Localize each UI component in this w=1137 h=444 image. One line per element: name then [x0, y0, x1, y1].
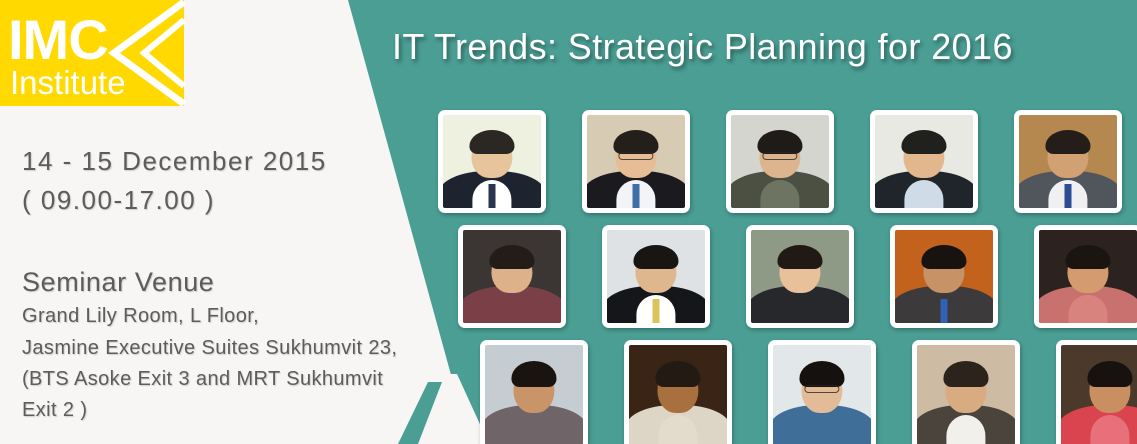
speaker-row-1 [438, 110, 1122, 213]
speaker-photo [912, 340, 1020, 444]
speaker-10-portrait [1039, 230, 1137, 323]
speaker-photo [582, 110, 690, 213]
speaker-11-portrait [485, 345, 583, 444]
speaker-photo [726, 110, 834, 213]
speaker-photo [746, 225, 854, 328]
speaker-photo [870, 110, 978, 213]
speaker-13-portrait [773, 345, 871, 444]
speaker-7-portrait [607, 230, 705, 323]
venue-line-4: Exit 2 ) [22, 399, 87, 422]
venue-line-3: (BTS Asoke Exit 3 and MRT Sukhumvit [22, 368, 383, 391]
speaker-12-portrait [629, 345, 727, 444]
speaker-6-portrait [463, 230, 561, 323]
venue-line-1: Grand Lily Room, L Floor, [22, 305, 259, 328]
speaker-photo [602, 225, 710, 328]
speaker-15-portrait [1061, 345, 1137, 444]
event-date: 14 - 15 December 2015 [22, 146, 327, 177]
speaker-photo [1056, 340, 1137, 444]
page-title: IT Trends: Strategic Planning for 2016 [392, 26, 1013, 68]
speaker-2-portrait [587, 115, 685, 208]
speaker-14-portrait [917, 345, 1015, 444]
speaker-9-portrait [895, 230, 993, 323]
envelope-chevron-icon [108, 0, 186, 106]
event-time: ( 09.00-17.00 ) [22, 185, 215, 216]
speaker-photo [624, 340, 732, 444]
speaker-row-3 [480, 340, 1137, 444]
speaker-1-portrait [443, 115, 541, 208]
imc-institute-logo[interactable]: IMC Institute [0, 0, 184, 106]
speaker-photo [890, 225, 998, 328]
logo-primary-text: IMC [8, 12, 108, 68]
speaker-row-2 [458, 225, 1137, 328]
speaker-photo [458, 225, 566, 328]
speaker-photo [768, 340, 876, 444]
speaker-photo [1014, 110, 1122, 213]
venue-line-2: Jasmine Executive Suites Sukhumvit 23, [22, 337, 397, 360]
speaker-photo [480, 340, 588, 444]
speaker-3-portrait [731, 115, 829, 208]
speaker-5-portrait [1019, 115, 1117, 208]
speaker-4-portrait [875, 115, 973, 208]
speaker-photo [438, 110, 546, 213]
venue-heading: Seminar Venue [22, 267, 214, 298]
speaker-8-portrait [751, 230, 849, 323]
seminar-banner: IMC Institute 14 - 15 December 2015 ( 09… [0, 0, 1137, 444]
speaker-photo [1034, 225, 1137, 328]
